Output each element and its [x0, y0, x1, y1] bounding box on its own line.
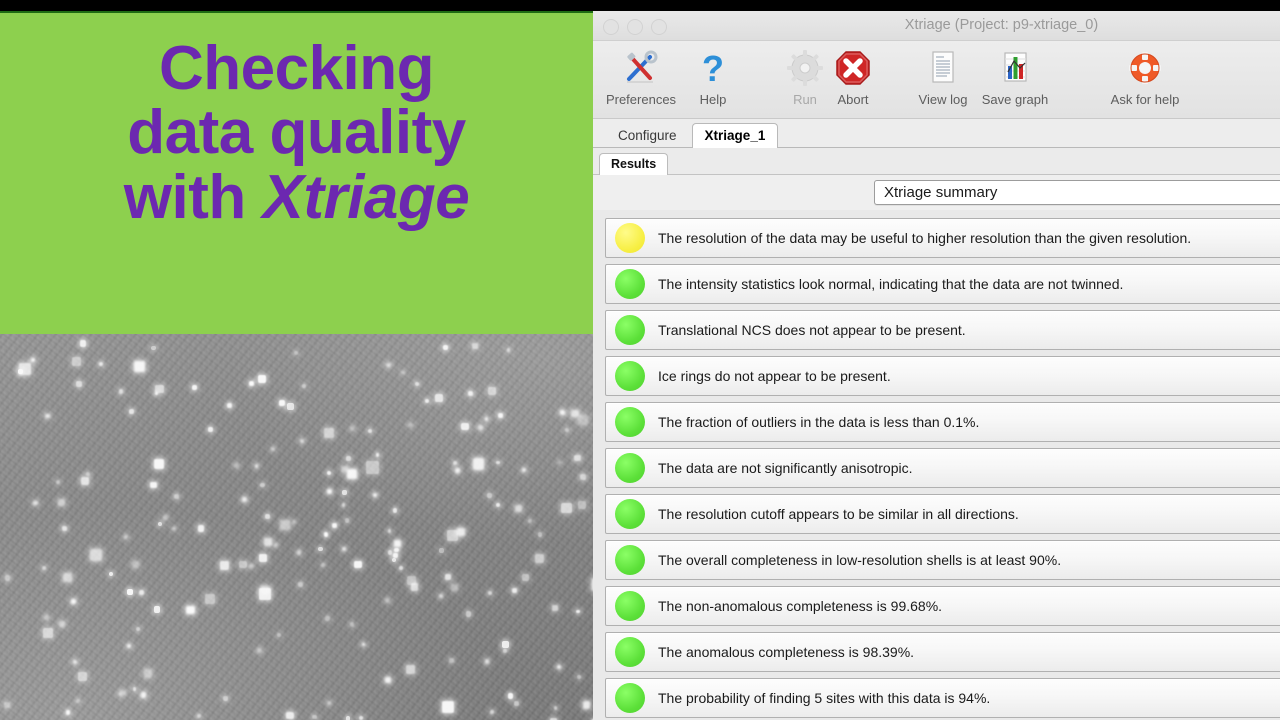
diffraction-spot	[394, 540, 401, 547]
result-row-text: The overall completeness in low-resoluti…	[658, 552, 1061, 568]
diffraction-spot	[76, 381, 82, 387]
screenshot-root: Checking data quality with Xtriage Xtria…	[0, 0, 1280, 720]
diffraction-spot	[401, 371, 405, 375]
result-row-text: The resolution of the data may be useful…	[658, 230, 1191, 246]
diffraction-spot	[332, 523, 337, 528]
diffraction-spot	[86, 472, 90, 476]
result-row-text: The fraction of outliers in the data is …	[658, 414, 979, 430]
status-indicator-green	[615, 269, 645, 299]
diffraction-spot	[90, 549, 102, 561]
result-row[interactable]: Translational NCS does not appear to be …	[605, 310, 1280, 350]
diffraction-spot	[242, 497, 247, 502]
window-title: Xtriage (Project: p9-xtriage_0)	[593, 17, 1280, 33]
diffraction-spot	[350, 426, 355, 431]
diffraction-spot	[59, 621, 65, 627]
diffraction-spot	[258, 375, 266, 383]
status-indicator-yellow	[615, 223, 645, 253]
xtriage-window: Xtriage (Project: p9-xtriage_0) Preferen…	[593, 11, 1280, 720]
toolbar-label-save-graph: Save graph	[971, 92, 1059, 107]
diffraction-spot	[80, 340, 87, 347]
slide-title-line-1: Checking	[159, 37, 434, 101]
diffraction-spot	[5, 575, 10, 580]
diffraction-spot	[260, 483, 265, 488]
diffraction-spot	[63, 573, 71, 581]
diffraction-spot	[127, 589, 133, 595]
diffraction-spot	[220, 561, 229, 570]
toolbar-label-help: Help	[669, 92, 757, 107]
diffraction-spot	[134, 361, 145, 372]
diffraction-spot	[192, 385, 197, 390]
diffraction-spot	[385, 598, 390, 603]
slide-title-line-3-italic: Xtriage	[263, 163, 470, 232]
diffraction-spot	[300, 439, 304, 443]
results-list[interactable]: The resolution of the data may be useful…	[593, 210, 1280, 720]
diffraction-spot	[71, 599, 76, 604]
diffraction-spot	[302, 384, 306, 388]
diffraction-spot	[439, 594, 443, 598]
diffraction-spot	[312, 715, 317, 720]
diffraction-spot	[151, 346, 155, 350]
result-row-text: The anomalous completeness is 98.39%.	[658, 644, 914, 660]
diffraction-spot	[468, 391, 473, 396]
result-row-text: The intensity statistics look normal, in…	[658, 276, 1123, 292]
result-row[interactable]: The probability of finding 5 sites with …	[605, 678, 1280, 718]
question-mark-icon: ?	[669, 46, 757, 90]
diffraction-spot	[133, 687, 137, 691]
diffraction-spot	[443, 345, 448, 350]
diffraction-spot	[366, 461, 379, 474]
status-indicator-green	[615, 637, 645, 667]
result-row[interactable]: The intensity statistics look normal, in…	[605, 264, 1280, 304]
status-indicator-green	[615, 683, 645, 713]
status-indicator-green	[615, 315, 645, 345]
diffraction-noise	[0, 334, 593, 720]
life-ring-icon	[1101, 46, 1189, 90]
diffraction-spot	[386, 363, 391, 368]
diffraction-spot	[473, 458, 485, 470]
diffraction-spot	[45, 414, 49, 418]
diffraction-spot	[535, 554, 544, 563]
diffraction-spot	[81, 477, 89, 485]
diffraction-spot	[255, 464, 259, 468]
diffraction-spot	[466, 611, 472, 617]
diffraction-spot	[4, 702, 11, 709]
result-row[interactable]: Ice rings do not appear to be present.	[605, 356, 1280, 396]
result-row[interactable]: The resolution of the data may be useful…	[605, 218, 1280, 258]
diffraction-spot	[264, 538, 272, 546]
diffraction-spot	[158, 522, 162, 526]
diffraction-spot	[297, 550, 302, 555]
diffraction-spot	[239, 561, 247, 569]
slide-top-rule	[0, 11, 593, 13]
diffraction-spot	[121, 690, 126, 695]
diffraction-spot	[198, 525, 205, 532]
diffraction-spot	[124, 535, 128, 539]
toolbar-button-abort[interactable]: Abort	[809, 46, 897, 107]
toolbar-label-ask-for-help: Ask for help	[1101, 92, 1189, 107]
diffraction-spot	[257, 648, 262, 653]
diffraction-spot	[354, 561, 361, 568]
main-tab-strip: Configure Xtriage_1	[593, 119, 1280, 148]
diffraction-spot	[132, 561, 139, 568]
status-indicator-green	[615, 407, 645, 437]
diffraction-spot	[62, 526, 67, 531]
diffraction-spot	[578, 415, 588, 425]
result-row-text: The resolution cutoff appears to be simi…	[658, 506, 1019, 522]
diffraction-spot	[205, 594, 214, 603]
slide-title-line-3: with Xtriage	[124, 166, 469, 230]
result-row-text: The non-anomalous completeness is 99.68%…	[658, 598, 942, 614]
diffraction-spot	[78, 672, 87, 681]
result-row[interactable]: The anomalous completeness is 98.39%.	[605, 632, 1280, 672]
diffraction-spot	[172, 527, 176, 531]
result-row-text: The probability of finding 5 sites with …	[658, 690, 990, 706]
diffraction-spot	[508, 693, 513, 698]
diffraction-spot	[577, 675, 581, 679]
top-letterbox	[0, 0, 1280, 11]
result-row[interactable]: The resolution cutoff appears to be simi…	[605, 494, 1280, 534]
diffraction-spot	[327, 471, 331, 475]
diffraction-spot	[490, 710, 494, 714]
diffraction-spot	[388, 550, 393, 555]
diffraction-spot	[496, 461, 500, 465]
diffraction-spot	[425, 399, 429, 403]
stop-octagon-icon	[809, 46, 897, 90]
diffraction-spot	[346, 716, 351, 720]
diffraction-spot	[58, 499, 65, 506]
status-indicator-green	[615, 453, 645, 483]
tab-results[interactable]: Results	[599, 153, 668, 175]
diffraction-spot	[350, 622, 355, 627]
diffraction-spot	[234, 463, 239, 468]
diffraction-spot	[223, 696, 228, 701]
diffraction-spot	[487, 493, 492, 498]
diffraction-spot	[259, 554, 267, 562]
status-indicator-green	[615, 499, 645, 529]
diffraction-spot	[109, 572, 113, 576]
diffraction-spot	[66, 710, 70, 714]
diffraction-spot	[73, 660, 77, 664]
diffraction-spot	[388, 529, 392, 533]
diffraction-spot	[435, 394, 443, 402]
result-row[interactable]: The data are not significantly anisotrop…	[605, 448, 1280, 488]
diffraction-spot	[154, 459, 164, 469]
result-row[interactable]: The non-anomalous completeness is 99.68%…	[605, 586, 1280, 626]
diffraction-spot	[561, 503, 572, 514]
diffraction-spot	[99, 362, 103, 366]
diffraction-spot	[139, 590, 144, 595]
summary-dropdown-value: Xtriage summary	[884, 184, 997, 201]
diffraction-spot	[574, 455, 581, 462]
diffraction-spot	[324, 532, 329, 537]
diffraction-spot	[385, 677, 392, 684]
bar-chart-icon	[971, 46, 1059, 90]
diffraction-spot	[538, 532, 543, 537]
diffraction-spot	[442, 701, 454, 713]
diffraction-spot	[287, 403, 294, 410]
diffraction-spot	[136, 627, 140, 631]
summary-selector-row: Xtriage summary	[593, 175, 1280, 212]
diffraction-spot	[280, 520, 289, 529]
diffraction-spot	[406, 665, 415, 674]
diffraction-spot	[415, 382, 419, 386]
diffraction-spot	[43, 628, 53, 638]
diffraction-spot	[453, 461, 457, 465]
diffraction-spot	[502, 641, 509, 648]
slide-title-line-3-plain: with	[124, 163, 263, 232]
diffraction-spot	[449, 658, 454, 663]
diffraction-spot	[72, 357, 81, 366]
diffraction-image	[0, 334, 593, 720]
diffraction-spot	[259, 588, 271, 600]
diffraction-spot	[347, 469, 357, 479]
diffraction-spot	[393, 508, 397, 512]
diffraction-spot	[408, 423, 413, 428]
diffraction-spot	[583, 701, 591, 709]
diffraction-spot	[580, 474, 586, 480]
diffraction-spot	[507, 348, 511, 352]
result-row-text: Ice rings do not appear to be present.	[658, 368, 891, 384]
toolbar-button-ask-for-help[interactable]: Ask for help	[1101, 46, 1189, 107]
diffraction-spot	[42, 566, 46, 570]
diffraction-spot	[346, 456, 351, 461]
slide-title-line-2: data quality	[127, 101, 466, 165]
status-indicator-green	[615, 591, 645, 621]
result-row[interactable]: The overall completeness in low-resoluti…	[605, 540, 1280, 580]
diffraction-spot	[515, 505, 522, 512]
status-indicator-green	[615, 361, 645, 391]
diffraction-spot	[154, 606, 161, 613]
diffraction-spot	[439, 548, 444, 553]
diffraction-spot	[265, 514, 270, 519]
diffraction-spot	[174, 494, 179, 499]
diffraction-spot	[44, 615, 49, 620]
window-titlebar: Xtriage (Project: p9-xtriage_0)	[593, 11, 1280, 41]
diffraction-spot	[186, 606, 194, 614]
diffraction-spot	[478, 425, 483, 430]
status-indicator-green	[615, 545, 645, 575]
diffraction-spot	[321, 563, 325, 567]
diffraction-spot	[286, 712, 293, 719]
diffraction-spot	[457, 528, 465, 536]
diffraction-spot	[163, 515, 168, 520]
diffraction-spot	[376, 453, 380, 457]
result-row-text: Translational NCS does not appear to be …	[658, 322, 966, 338]
sub-tab-strip: Results	[593, 148, 1280, 175]
diffraction-spot	[19, 363, 32, 376]
diffraction-spot	[445, 574, 450, 579]
diffraction-spot	[560, 410, 565, 415]
result-row-text: The data are not significantly anisotrop…	[658, 460, 912, 476]
diffraction-spot	[451, 584, 458, 591]
result-row[interactable]: The fraction of outliers in the data is …	[605, 402, 1280, 442]
diffraction-spot	[144, 669, 153, 678]
toolbar-button-save-graph[interactable]: Save graph	[971, 46, 1059, 107]
diffraction-spot	[33, 501, 38, 506]
diffraction-spot	[119, 389, 124, 394]
tab-xtriage-1[interactable]: Xtriage_1	[692, 123, 779, 148]
tab-configure[interactable]: Configure	[605, 123, 690, 148]
slide-panel: Checking data quality with Xtriage	[0, 13, 593, 720]
toolbar-button-help[interactable]: ? Help	[669, 46, 757, 107]
diffraction-spot	[578, 501, 586, 509]
diffraction-spot	[31, 358, 35, 362]
summary-dropdown[interactable]: Xtriage summary	[874, 180, 1280, 205]
diffraction-spot	[345, 518, 349, 522]
toolbar: Preferences ? Help	[593, 41, 1280, 119]
diffraction-spot	[411, 583, 418, 590]
diffraction-spot	[279, 400, 285, 406]
diffraction-spot	[150, 482, 157, 489]
slide-title-card: Checking data quality with Xtriage	[0, 13, 593, 334]
diffraction-spot	[488, 387, 496, 395]
diffraction-spot	[522, 574, 529, 581]
toolbar-label-abort: Abort	[809, 92, 897, 107]
diffraction-spot	[324, 428, 334, 438]
diffraction-spot	[325, 616, 330, 621]
diffraction-spot	[554, 706, 558, 710]
diffraction-spot	[141, 692, 147, 698]
diffraction-spot	[341, 466, 347, 472]
diffraction-spot	[461, 423, 468, 430]
svg-text:?: ?	[702, 48, 724, 88]
